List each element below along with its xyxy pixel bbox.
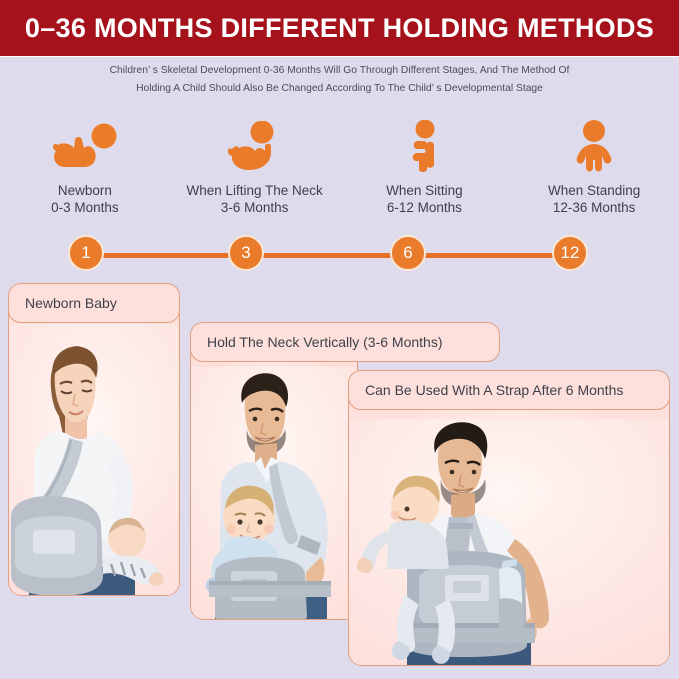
subtitle-block: Children’ s Skeletal Development 0-36 Mo… <box>0 62 679 98</box>
stage-age: 0-3 Months <box>51 199 119 216</box>
stage-sitting: When Sitting 6-12 Months <box>340 118 510 228</box>
baby-sitting-icon <box>400 118 448 176</box>
card-strap-after-6-months[interactable]: Can Be Used With A Strap After 6 Months <box>348 378 670 666</box>
card-label-text-newborn: Newborn Baby <box>25 295 117 311</box>
stage-age: 6-12 Months <box>386 199 463 216</box>
header-band: 0–36 MONTHS DIFFERENT HOLDING METHODS <box>0 0 679 56</box>
stage-label-sitting: When Sitting 6-12 Months <box>386 182 463 216</box>
timeline-line <box>85 253 574 258</box>
card-newborn-baby[interactable]: Newborn Baby <box>8 283 180 596</box>
stage-label-standing: When Standing 12-36 Months <box>548 182 640 216</box>
stage-age: 12-36 Months <box>548 199 640 216</box>
stage-lifting-neck: When Lifting The Neck 3-6 Months <box>170 118 340 228</box>
page-title: 0–36 MONTHS DIFFERENT HOLDING METHODS <box>25 13 654 44</box>
timeline: 1 3 6 12 <box>0 235 679 275</box>
stage-title: Newborn <box>58 183 112 198</box>
photo-father-toddler-hipseat <box>190 367 358 620</box>
stage-title: When Lifting The Neck <box>186 183 322 198</box>
stage-label-lifting-neck: When Lifting The Neck 3-6 Months <box>186 182 322 216</box>
photo-mother-newborn <box>8 324 180 596</box>
subtitle-line-2: Holding A Child Should Also Be Changed A… <box>0 80 679 98</box>
card-label-text-strap: Can Be Used With A Strap After 6 Months <box>365 382 623 398</box>
baby-standing-icon <box>568 118 620 176</box>
timeline-node-12[interactable]: 12 <box>552 235 588 271</box>
subtitle-line-1: Children’ s Skeletal Development 0-36 Mo… <box>0 62 679 80</box>
timeline-node-3[interactable]: 3 <box>228 235 264 271</box>
stage-title: When Standing <box>548 183 640 198</box>
stage-standing: When Standing 12-36 Months <box>509 118 679 228</box>
card-label-strap: Can Be Used With A Strap After 6 Months <box>348 370 670 410</box>
stage-newborn: Newborn 0-3 Months <box>0 118 170 228</box>
baby-head-up-icon <box>224 118 286 176</box>
stage-title: When Sitting <box>386 183 463 198</box>
timeline-node-1[interactable]: 1 <box>68 235 104 271</box>
card-label-newborn: Newborn Baby <box>8 283 180 323</box>
stage-row: Newborn 0-3 Months When Lifting The Neck… <box>0 118 679 228</box>
stage-label-newborn: Newborn 0-3 Months <box>51 182 119 216</box>
timeline-node-6[interactable]: 6 <box>390 235 426 271</box>
stage-age: 3-6 Months <box>186 199 322 216</box>
baby-lying-icon <box>48 118 122 176</box>
card-hold-neck[interactable]: Hold The Neck Vertically (3-6 Months) <box>190 330 358 620</box>
photo-father-toddler-strap <box>349 419 670 666</box>
card-label-text-hold-neck: Hold The Neck Vertically (3-6 Months) <box>207 334 443 350</box>
card-label-hold-neck: Hold The Neck Vertically (3-6 Months) <box>190 322 500 362</box>
